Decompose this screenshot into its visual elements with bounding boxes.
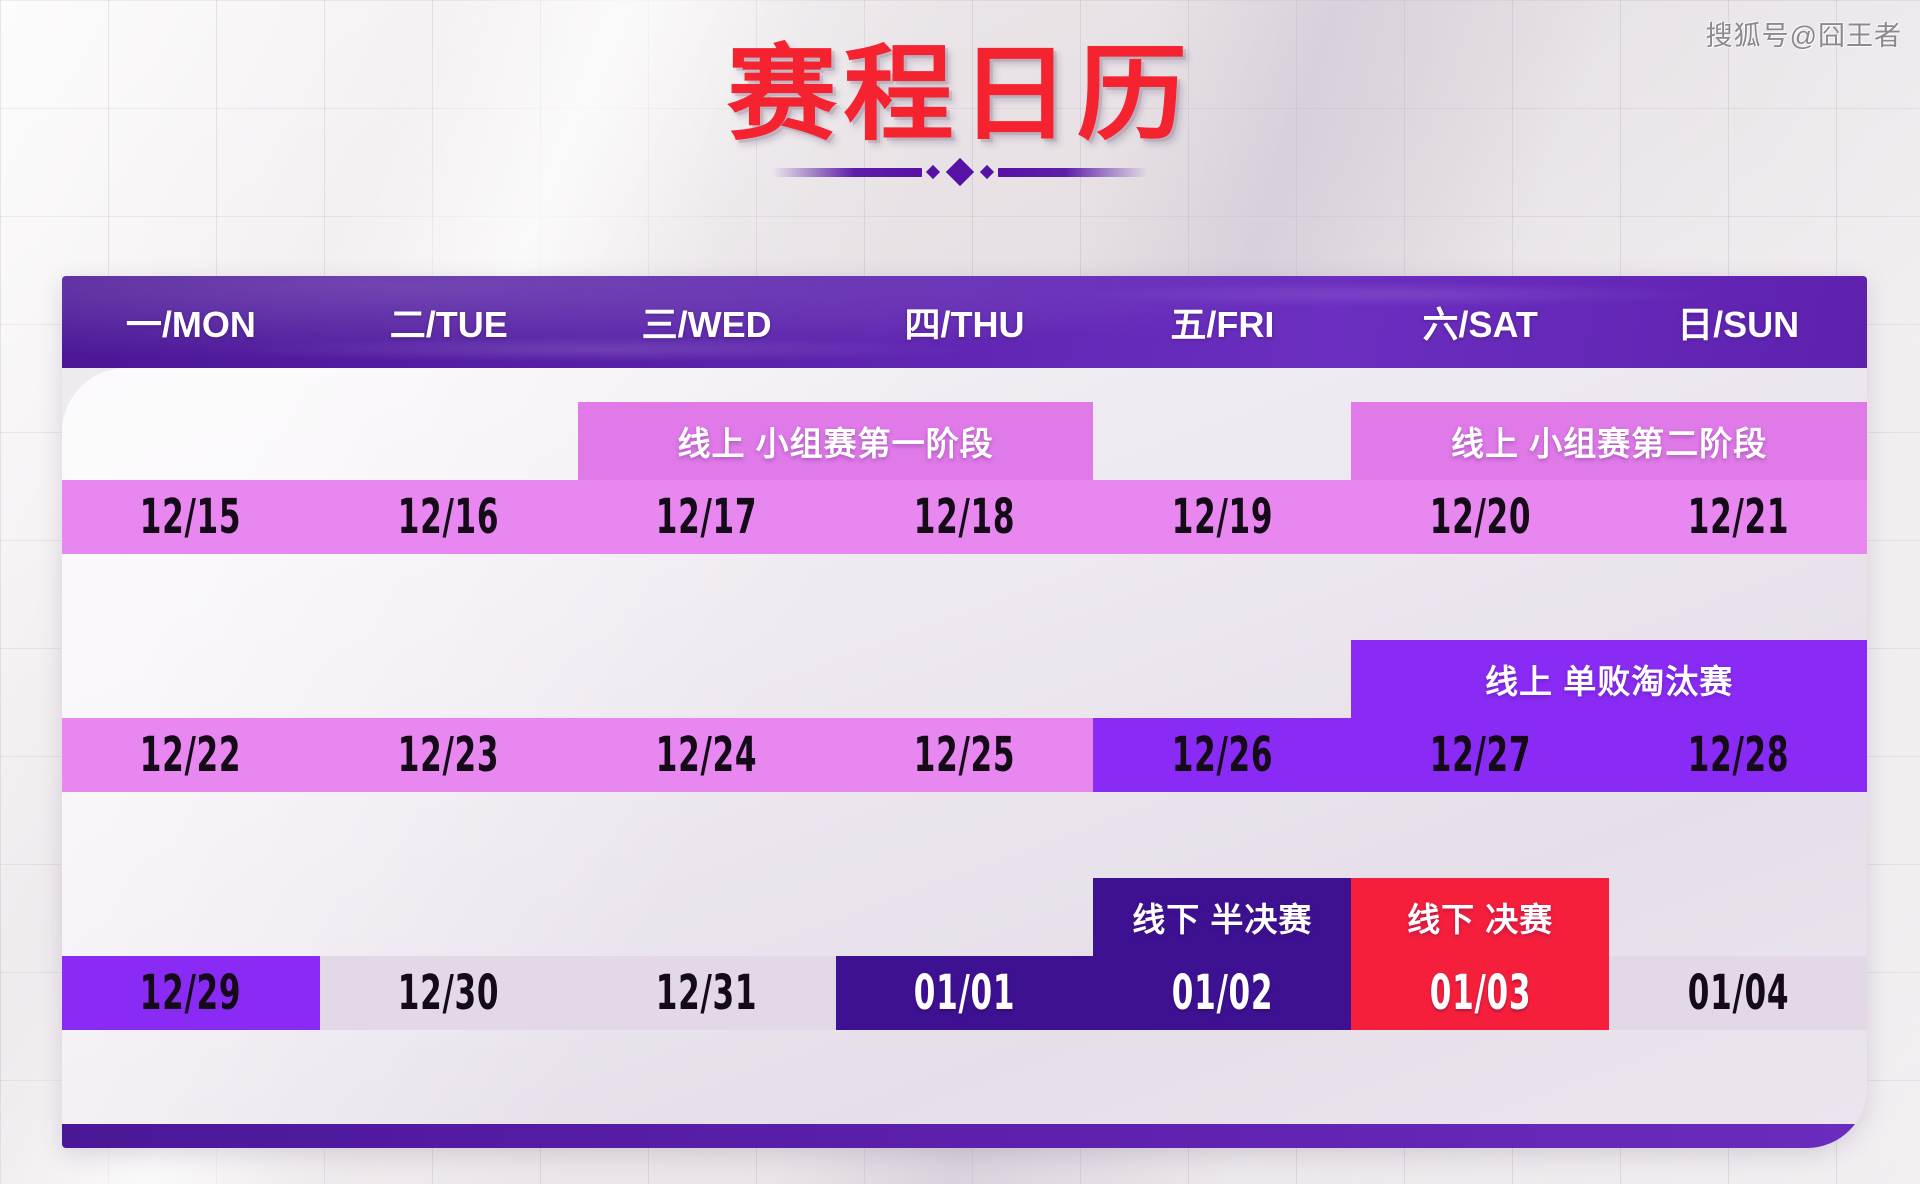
date-strip: 12/2912/3012/3101/0101/0201/0301/04 <box>62 956 1867 1030</box>
diamond-small-left-icon <box>926 165 940 179</box>
date-label: 12/16 <box>398 493 499 541</box>
schedule-calendar-card: 一/MON 二/TUE 三/WED 四/THU 五/FRI 六/SAT 日/SU… <box>62 276 1867 1148</box>
day-header-fri: 五/FRI <box>1093 296 1351 348</box>
date-label: 12/15 <box>140 493 241 541</box>
date-label: 12/27 <box>1429 731 1530 779</box>
date-label: 01/04 <box>1687 969 1788 1017</box>
date-label: 12/17 <box>656 493 757 541</box>
diamond-large-icon <box>946 158 974 186</box>
date-cell[interactable]: 01/02 <box>1093 956 1351 1030</box>
date-cell[interactable]: 12/22 <box>62 718 320 792</box>
watermark: 搜狐号@囧王者 <box>1706 14 1902 53</box>
date-cell[interactable]: 12/21 <box>1609 480 1867 554</box>
date-cell[interactable]: 12/26 <box>1093 718 1351 792</box>
day-header-row: 一/MON 二/TUE 三/WED 四/THU 五/FRI 六/SAT 日/SU… <box>62 276 1867 368</box>
date-label: 12/22 <box>140 731 241 779</box>
date-label: 12/25 <box>914 731 1015 779</box>
event-band-label: 线下 半决赛 <box>1132 893 1312 941</box>
date-label: 12/30 <box>398 969 499 1017</box>
event-band-label: 线上 小组赛第二阶段 <box>1451 417 1767 465</box>
diamond-small-right-icon <box>980 165 994 179</box>
date-cell[interactable]: 12/30 <box>320 956 578 1030</box>
date-cell[interactable]: 12/24 <box>578 718 836 792</box>
date-label: 12/20 <box>1429 493 1530 541</box>
date-cell[interactable]: 12/19 <box>1093 480 1351 554</box>
date-label: 01/03 <box>1429 969 1530 1017</box>
event-band-label: 线下 决赛 <box>1407 893 1553 941</box>
calendar-week-row: 线上 单败淘汰赛 12/2212/2312/2412/2512/2612/271… <box>62 606 1867 844</box>
event-band[interactable]: 线上 小组赛第二阶段 <box>1351 402 1867 480</box>
event-band-label: 线上 单败淘汰赛 <box>1485 655 1733 703</box>
calendar-week-row: 线上 小组赛第一阶段线上 小组赛第二阶段 12/1512/1612/1712/1… <box>62 368 1867 606</box>
title-block: 赛程日历 <box>0 40 1920 185</box>
date-strip: 12/2212/2312/2412/2512/2612/2712/28 <box>62 718 1867 792</box>
day-header-thu: 四/THU <box>836 296 1094 348</box>
day-header-sun: 日/SUN <box>1609 296 1867 348</box>
date-cell[interactable]: 12/29 <box>62 956 320 1030</box>
date-cell[interactable]: 01/04 <box>1609 956 1867 1030</box>
day-header-tue: 二/TUE <box>320 296 578 348</box>
date-cell[interactable]: 12/15 <box>62 480 320 554</box>
date-cell[interactable]: 12/18 <box>836 480 1094 554</box>
date-cell[interactable]: 01/03 <box>1351 956 1609 1030</box>
date-cell[interactable]: 12/20 <box>1351 480 1609 554</box>
date-cell[interactable]: 12/16 <box>320 480 578 554</box>
divider-bar-left <box>772 168 922 177</box>
event-band[interactable]: 线上 小组赛第一阶段 <box>578 402 1094 480</box>
date-cell[interactable]: 12/25 <box>836 718 1094 792</box>
event-band-label: 线上 小组赛第一阶段 <box>677 417 993 465</box>
day-header-wed: 三/WED <box>578 296 836 348</box>
date-strip: 12/1512/1612/1712/1812/1912/2012/21 <box>62 480 1867 554</box>
date-label: 12/21 <box>1687 493 1788 541</box>
date-label: 12/19 <box>1172 493 1273 541</box>
page-title: 赛程日历 <box>727 40 1193 149</box>
date-label: 12/24 <box>656 731 757 779</box>
event-band[interactable]: 线上 单败淘汰赛 <box>1351 640 1867 718</box>
date-label: 12/31 <box>656 969 757 1017</box>
date-cell[interactable]: 12/27 <box>1351 718 1609 792</box>
title-divider <box>0 159 1920 185</box>
date-cell[interactable]: 12/28 <box>1609 718 1867 792</box>
date-label: 12/18 <box>914 493 1015 541</box>
date-label: 01/01 <box>914 969 1015 1017</box>
date-label: 12/28 <box>1687 731 1788 779</box>
date-label: 01/02 <box>1172 969 1273 1017</box>
day-header-mon: 一/MON <box>62 296 320 348</box>
date-label: 12/23 <box>398 731 499 779</box>
date-label: 12/29 <box>140 969 241 1017</box>
day-header-sat: 六/SAT <box>1351 296 1609 348</box>
date-label: 12/26 <box>1172 731 1273 779</box>
event-band[interactable]: 线下 决赛 <box>1351 878 1609 956</box>
date-cell[interactable]: 12/31 <box>578 956 836 1030</box>
divider-bar-right <box>998 168 1148 177</box>
calendar-footer-bar <box>62 1124 1867 1148</box>
date-cell[interactable]: 12/17 <box>578 480 836 554</box>
calendar-week-row: 线下 半决赛线下 决赛 12/2912/3012/3101/0101/0201/… <box>62 844 1867 1082</box>
date-cell[interactable]: 12/23 <box>320 718 578 792</box>
date-cell[interactable]: 01/01 <box>836 956 1094 1030</box>
event-band[interactable]: 线下 半决赛 <box>1093 878 1351 956</box>
